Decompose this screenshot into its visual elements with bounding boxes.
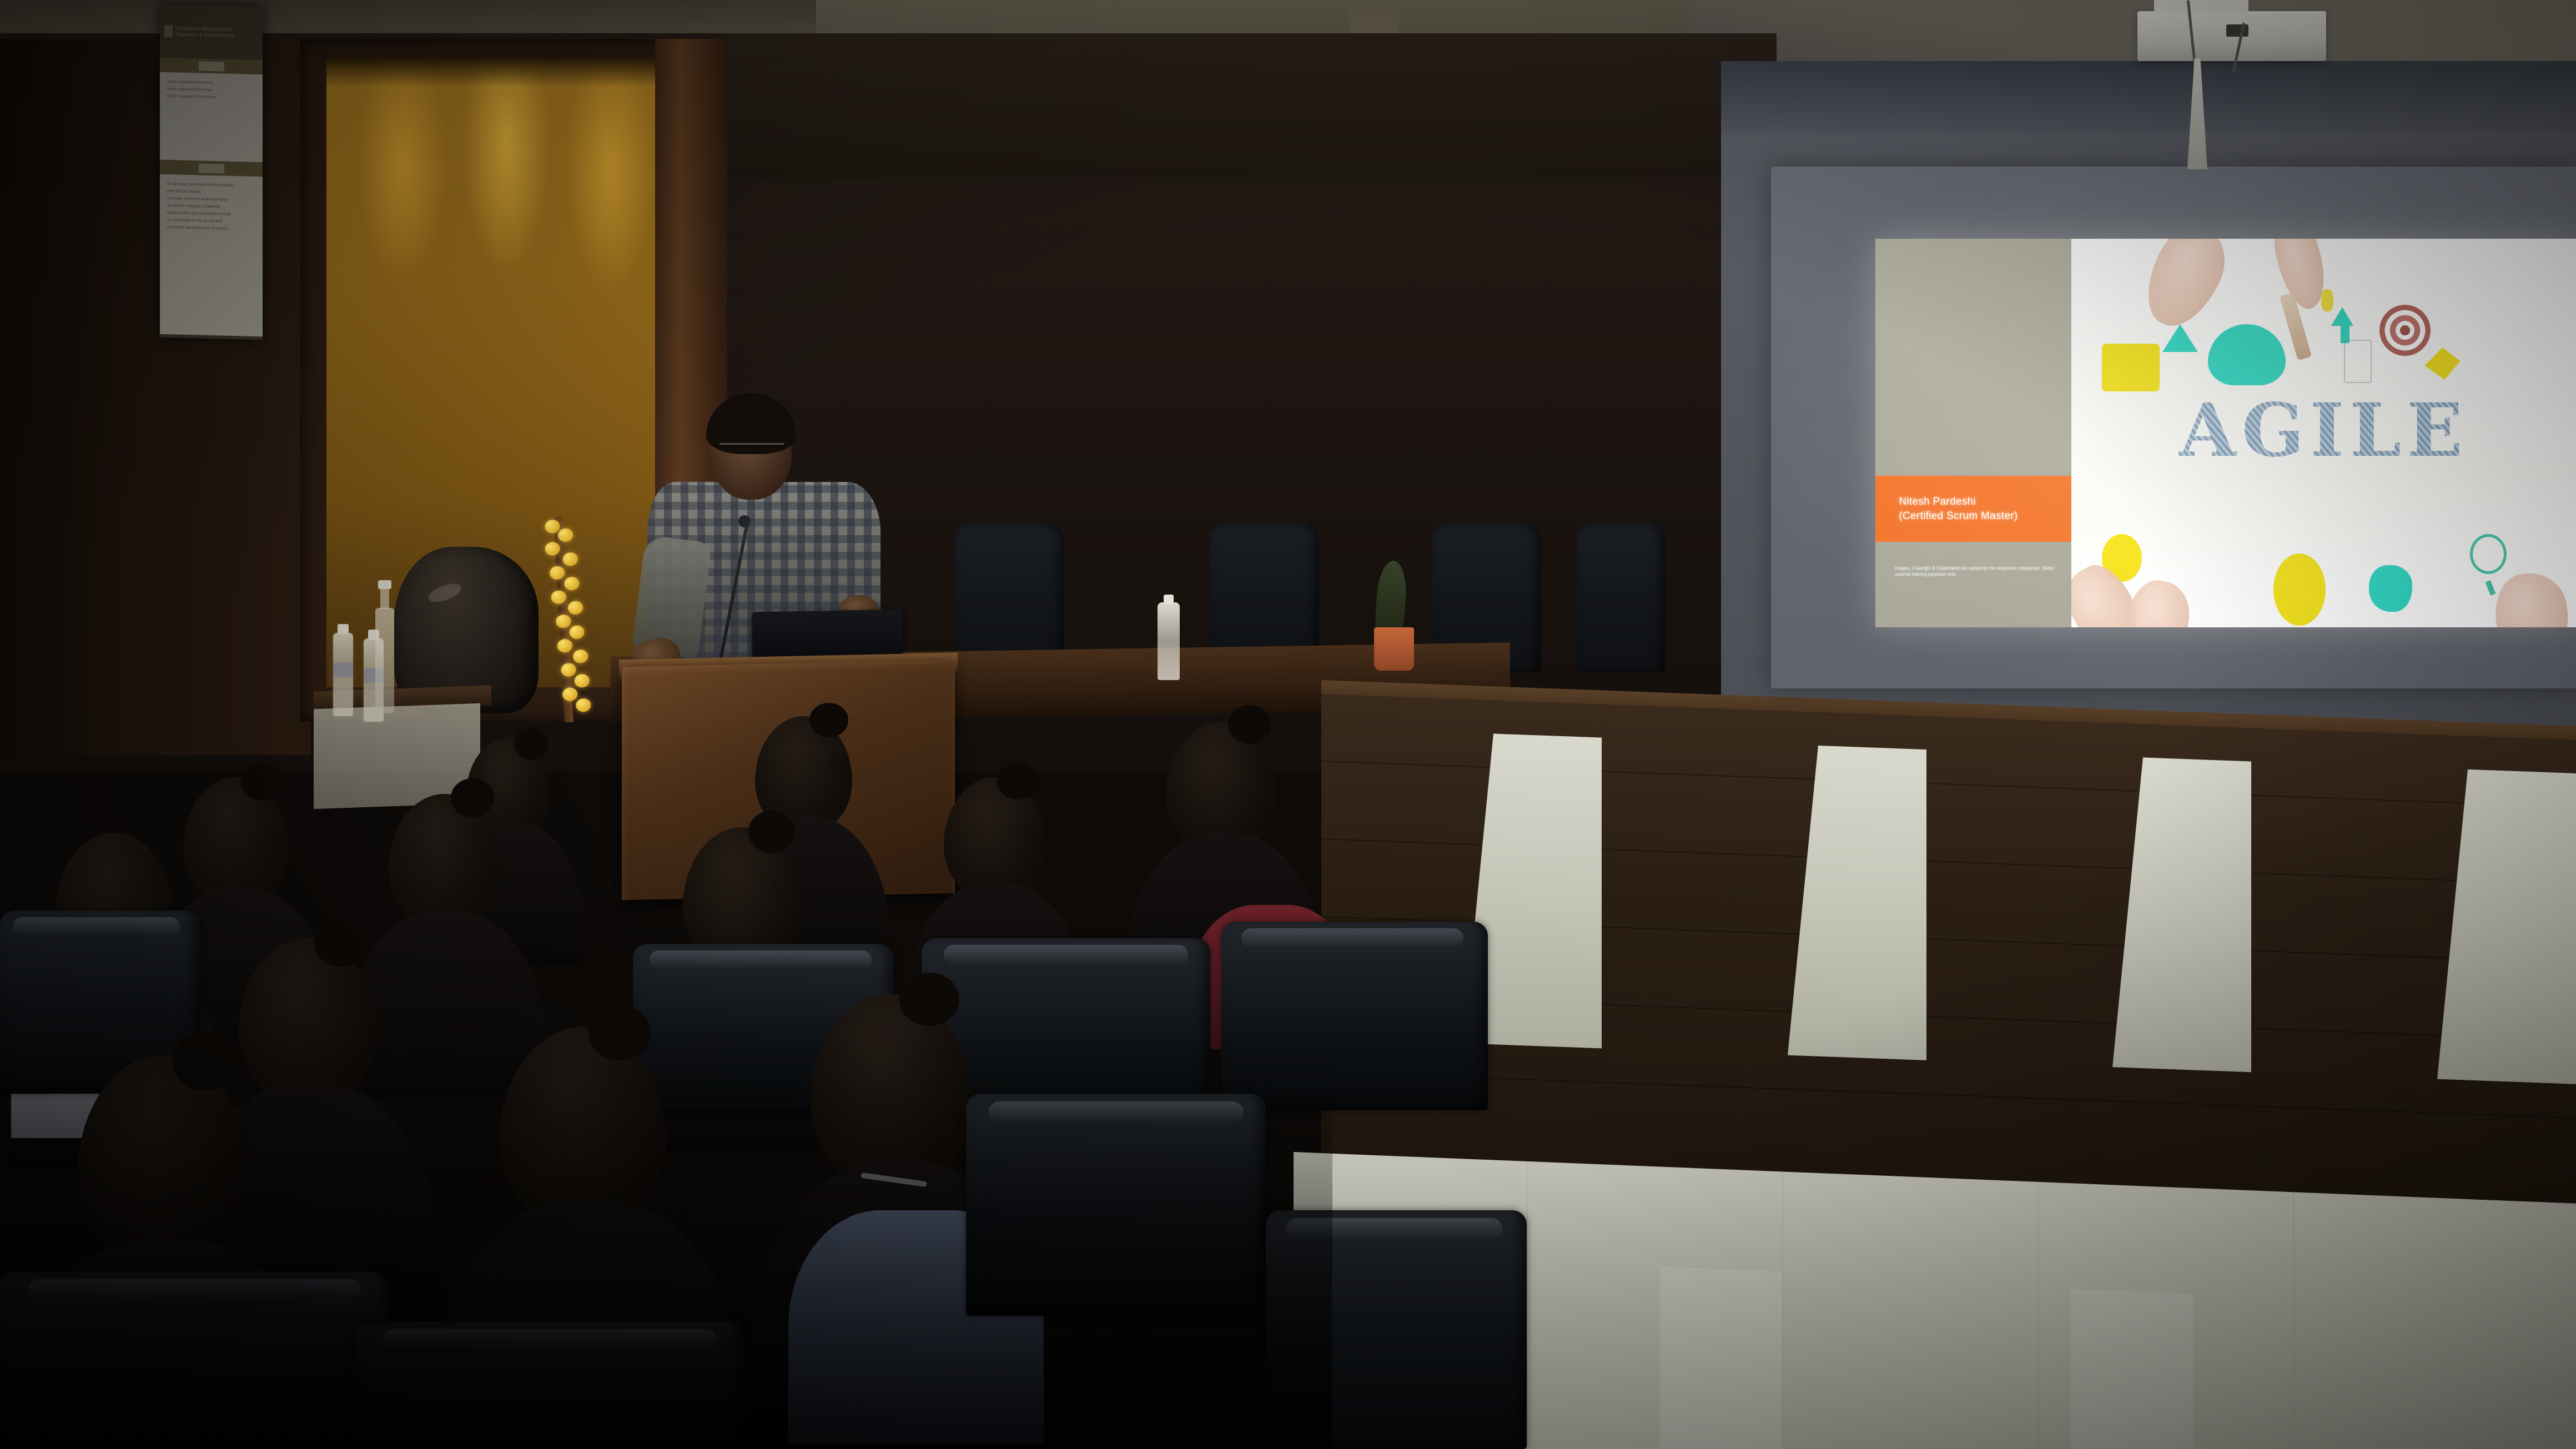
stage-water-bottle [1158, 602, 1180, 680]
stage-chair [1577, 522, 1666, 672]
hand-lower-right-icon [2490, 568, 2573, 627]
left-wood-wall [0, 39, 311, 755]
tall-bottle [375, 608, 394, 713]
up-arrow-icon [2331, 307, 2353, 326]
slide-presenter-role: (Certified Scrum Master) [1899, 509, 2071, 524]
auditorium-seat[interactable] [355, 1321, 744, 1449]
slide-artwork: AGILE [2071, 239, 2576, 627]
poster-vision-body: Vision statement line one Vision stateme… [160, 72, 263, 163]
magnifier-handle [2485, 580, 2495, 596]
bottle-label [333, 663, 353, 677]
auditorium-seat[interactable] [1221, 922, 1488, 1110]
slide-sidebar: Nitesh Pardeshi (Certified Scrum Master)… [1875, 239, 2071, 627]
bullseye-target-icon [2379, 305, 2431, 356]
poster-band-label-vision [199, 61, 224, 71]
slide-presenter-band: Nitesh Pardeshi (Certified Scrum Master) [1875, 476, 2071, 542]
magnifier-icon [2470, 534, 2507, 574]
poster-mission-line: economic development of society [167, 223, 256, 233]
projector-mount-bracket [2154, 0, 2248, 13]
framed-wall-poster: Institute of Management Research & Devel… [160, 4, 263, 340]
floor-reflection [2071, 1289, 2193, 1449]
presentation-slide: Nitesh Pardeshi (Certified Scrum Master)… [1875, 239, 2576, 627]
hand-drawing-top-left-icon [2134, 239, 2237, 338]
poster-header-line-2: Research & Development [175, 31, 235, 39]
alcove-top-shadow [326, 58, 686, 87]
teal-blob-lower-icon [2369, 565, 2412, 612]
right-wall-shadow [1721, 61, 2576, 133]
auditorium-scene: Institute of Management Research & Devel… [0, 0, 2576, 1449]
potted-plant [1374, 627, 1414, 671]
auditorium-seat[interactable] [1266, 1210, 1527, 1449]
yellow-oval-lower-center-icon [2273, 554, 2326, 626]
hand-lower-center-icon [2120, 576, 2195, 627]
yellow-diamond-icon [2424, 348, 2460, 380]
floor-reflection [1660, 1267, 1782, 1449]
projection-screen[interactable]: Nitesh Pardeshi (Certified Scrum Master)… [1875, 239, 2576, 627]
teal-cloud-blob-icon [2208, 324, 2286, 385]
projector-port [2226, 24, 2248, 37]
auditorium-seat[interactable] [966, 1094, 1266, 1316]
bottle-cap [338, 624, 349, 634]
bottle-cap [1164, 595, 1174, 603]
backpack-highlight [426, 580, 463, 606]
poster-header: Institute of Management Research & Devel… [160, 4, 263, 61]
bottle-neck [380, 588, 389, 609]
penciled-rectangle-icon [2344, 340, 2372, 383]
eyeglasses [720, 443, 784, 454]
poster-logo-icon [164, 25, 173, 37]
slide-title-word: AGILE [2092, 394, 2556, 467]
stage-panel-insert [1788, 744, 1926, 1060]
presenter-left-arm [632, 535, 712, 658]
poster-band-label-mission [199, 163, 224, 173]
slide-presenter-name: Nitesh Pardeshi [1899, 495, 2071, 509]
auditorium-seat[interactable] [0, 1271, 389, 1449]
microphone-capsule-icon [738, 515, 751, 527]
yellow-dot-small-icon [2321, 289, 2333, 311]
yellow-sticky-note-icon [2102, 344, 2160, 391]
bottle-cap [378, 580, 391, 589]
back-wall-upper [722, 33, 1777, 178]
poster-vision-line: Vision statement line three [167, 92, 256, 102]
stage-front-paneling [1321, 694, 2576, 1234]
teal-triangle-icon [2162, 324, 2198, 352]
slide-footnote: Images, Copyright & Trademarks are owned… [1895, 565, 2060, 577]
stage-panel-insert [2437, 768, 2576, 1084]
stage-panel-insert [2112, 756, 2251, 1072]
water-bottle [333, 633, 353, 716]
poster-mission-body: To develop competent professionals with … [160, 174, 263, 337]
